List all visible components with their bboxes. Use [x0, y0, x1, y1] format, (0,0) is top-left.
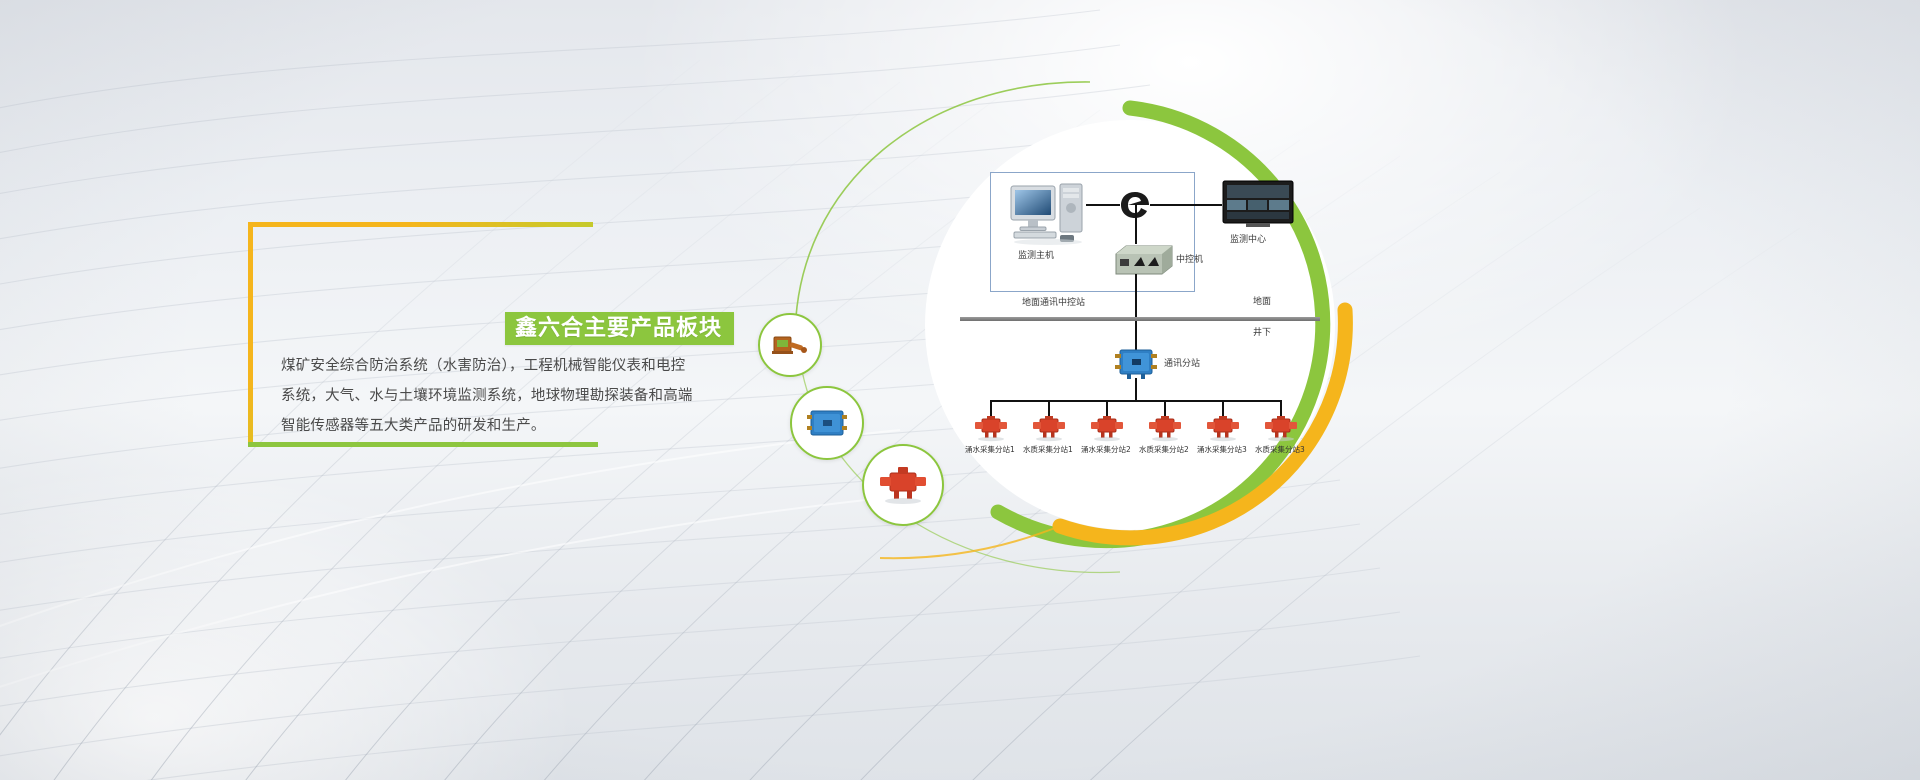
red-station-icon	[1148, 416, 1182, 442]
card-bottom-border	[248, 442, 598, 447]
line-host-to-switch	[1086, 204, 1120, 206]
station-label: 涌水采集分站3	[1197, 444, 1247, 455]
station-label: 涌水采集分站2	[1081, 444, 1131, 455]
sensor-device-bubble[interactable]	[758, 313, 822, 377]
diagram-label-center: 监测中心	[1230, 232, 1266, 245]
blue-box-icon	[804, 406, 850, 440]
page-title: 鑫六合主要产品板块	[515, 312, 722, 345]
red-station-icon	[974, 416, 1008, 442]
brown-sensor-icon	[770, 330, 810, 360]
desktop-computer-icon	[1008, 180, 1088, 246]
red-valve-icon	[877, 465, 929, 505]
blue-junction-box-icon	[1112, 346, 1160, 380]
system-architecture-diagram: 监测主机 监测中心 中控机 地面通讯中控站 地面 井下	[960, 160, 1320, 470]
station-label: 涌水采集分站1	[965, 444, 1015, 455]
red-station-icon	[1206, 416, 1240, 442]
diagram-label-comm-substation: 通讯分站	[1164, 356, 1200, 369]
line-switch-to-controller	[1135, 204, 1137, 244]
station-label: 水质采集分站3	[1255, 444, 1305, 455]
line-controller-to-substation	[1135, 274, 1137, 350]
diagram-label-underground: 井下	[1253, 325, 1271, 338]
diagram-label-surface: 地面	[1253, 294, 1271, 307]
communication-substation-bubble[interactable]	[790, 386, 864, 460]
red-station-icon	[1090, 416, 1124, 442]
station-label: 水质采集分站2	[1139, 444, 1189, 455]
diagram-label-host: 监测主机	[1018, 248, 1054, 261]
diagram-label-surface-station: 地面通讯中控站	[1022, 295, 1085, 308]
station-label: 水质采集分站1	[1023, 444, 1073, 455]
diagram-label-controller: 中控机	[1176, 252, 1203, 265]
bus-horizontal	[990, 400, 1280, 402]
page-title-banner: 鑫六合主要产品板块	[505, 312, 734, 345]
collection-substation-bubble[interactable]	[862, 444, 944, 526]
ground-line	[960, 317, 1320, 321]
red-station-icon	[1032, 416, 1066, 442]
line-substation-to-bus	[1135, 378, 1137, 400]
product-description: 煤矿安全综合防治系统（水害防治），工程机械智能仪表和电控系统，大气、水与土壤环境…	[281, 351, 699, 441]
monitor-wall-icon	[1222, 180, 1294, 228]
line-switch-to-center	[1150, 204, 1222, 206]
red-station-icon	[1264, 416, 1298, 442]
server-box-icon	[1112, 242, 1174, 278]
